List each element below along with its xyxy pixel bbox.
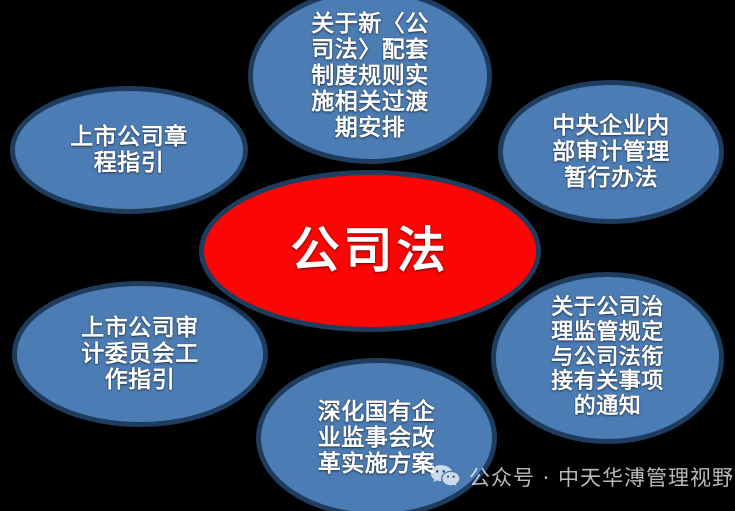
watermark-text: 公众号 · 中天华溥管理视野: [469, 462, 734, 492]
satellite-node-top-left[interactable]: 上市公司章 程指引: [10, 86, 248, 214]
satellite-label: 上市公司审 计委员会工 作指引: [34, 315, 246, 393]
satellite-label: 关于新〈公 司法〉配套 制度规则实 施相关过渡 期安排: [269, 11, 470, 141]
satellite-label: 上市公司章 程指引: [31, 124, 227, 176]
satellite-node-bottom-center[interactable]: 深化国有企 业监事会改 革实施方案: [256, 358, 497, 511]
satellite-node-top-right[interactable]: 中央企业内 部审计管理 暂行办法: [498, 80, 724, 224]
hub-node-company-law[interactable]: 公司法: [199, 170, 541, 332]
satellite-label: 关于公司治 理监管规定 与公司法衔 接有关事项 的通知: [512, 296, 704, 420]
satellite-label: 中央企业内 部审计管理 暂行办法: [518, 113, 704, 191]
hub-label: 公司法: [227, 223, 513, 278]
satellite-node-bottom-right[interactable]: 关于公司治 理监管规定 与公司法衔 接有关事项 的通知: [491, 272, 724, 444]
satellite-label: 深化国有企 业监事会改 革实施方案: [277, 399, 476, 477]
satellite-node-top-center[interactable]: 关于新〈公 司法〉配套 制度规则实 施相关过渡 期安排: [248, 0, 492, 164]
satellite-node-bottom-left[interactable]: 上市公司审 计委员会工 作指引: [12, 281, 268, 427]
diagram-canvas: 上市公司章 程指引 关于新〈公 司法〉配套 制度规则实 施相关过渡 期安排 中央…: [0, 0, 735, 511]
